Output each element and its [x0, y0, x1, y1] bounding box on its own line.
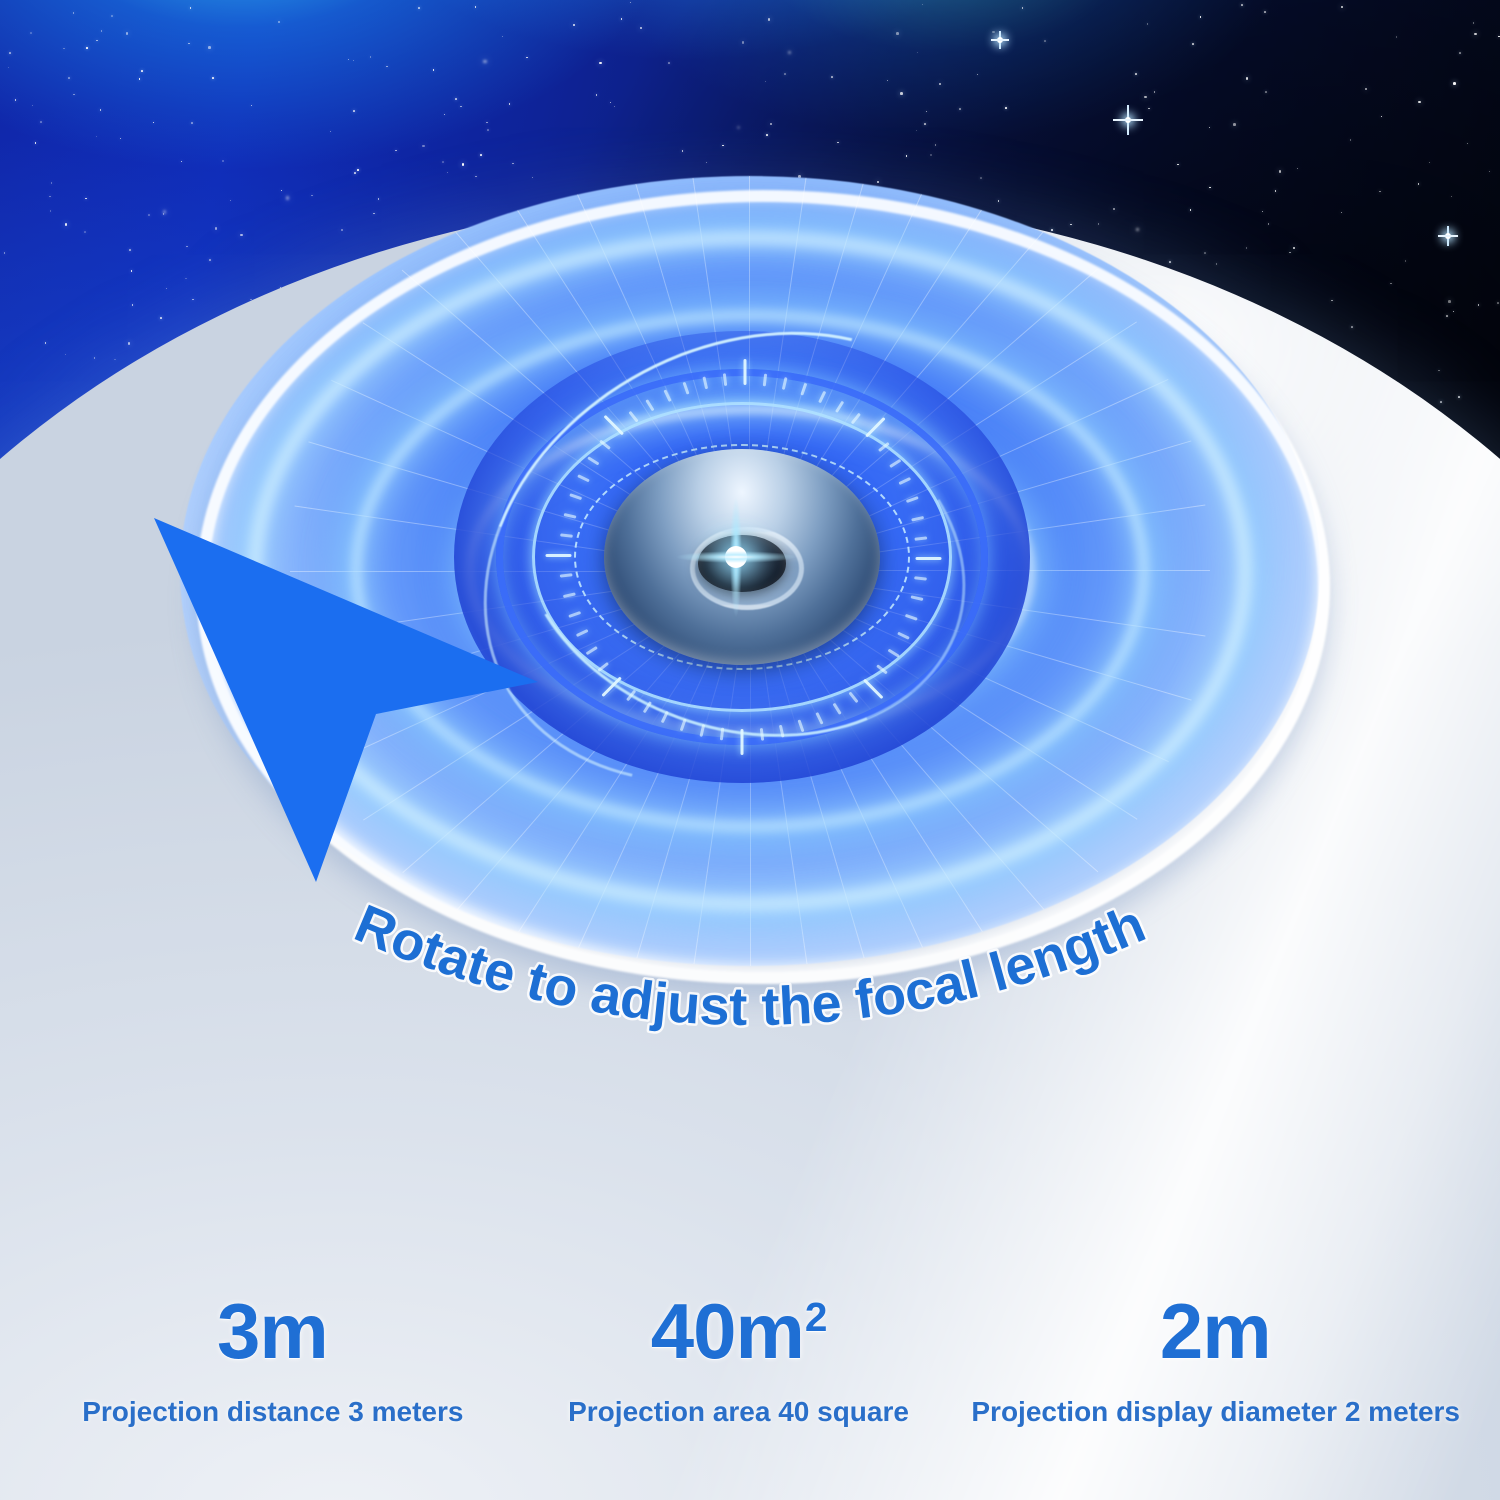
- projection-diameter-value: 2m: [971, 1292, 1460, 1370]
- projection-distance-value: 3m: [40, 1292, 506, 1370]
- projection-diameter-number: 2m: [1160, 1287, 1271, 1375]
- product-feature-image: Rotate to adjust the focal length 3m Pro…: [0, 0, 1500, 1500]
- sparkle-star: [1113, 105, 1143, 135]
- projection-area-number: 40m: [651, 1287, 804, 1375]
- projection-distance-number: 3m: [217, 1287, 328, 1375]
- projection-area-label: Projection area 40 square: [506, 1396, 972, 1428]
- headline-curved-text: Rotate to adjust the focal length: [320, 905, 1180, 1105]
- sparkle-star: [991, 31, 1009, 49]
- projection-distance: 3m Projection distance 3 meters: [40, 1292, 506, 1428]
- projection-area-value: 40m2: [506, 1292, 972, 1370]
- projection-distance-label: Projection distance 3 meters: [40, 1396, 506, 1428]
- projection-area-superscript: 2: [805, 1294, 827, 1340]
- sparkle-star: [1438, 226, 1458, 246]
- projection-area: 40m2 Projection area 40 square: [506, 1292, 972, 1428]
- headline-text: Rotate to adjust the focal length: [347, 893, 1154, 1037]
- lens-housing: [604, 449, 880, 665]
- projection-diameter-label: Projection display diameter 2 meters: [971, 1396, 1460, 1428]
- stats-row: 3m Projection distance 3 meters 40m2 Pro…: [0, 1292, 1500, 1428]
- projection-diameter: 2m Projection display diameter 2 meters: [971, 1292, 1460, 1428]
- rotation-direction-arrow: [120, 470, 550, 890]
- headline-textpath: Rotate to adjust the focal length: [347, 893, 1154, 1037]
- lens-star-flare: [676, 497, 796, 617]
